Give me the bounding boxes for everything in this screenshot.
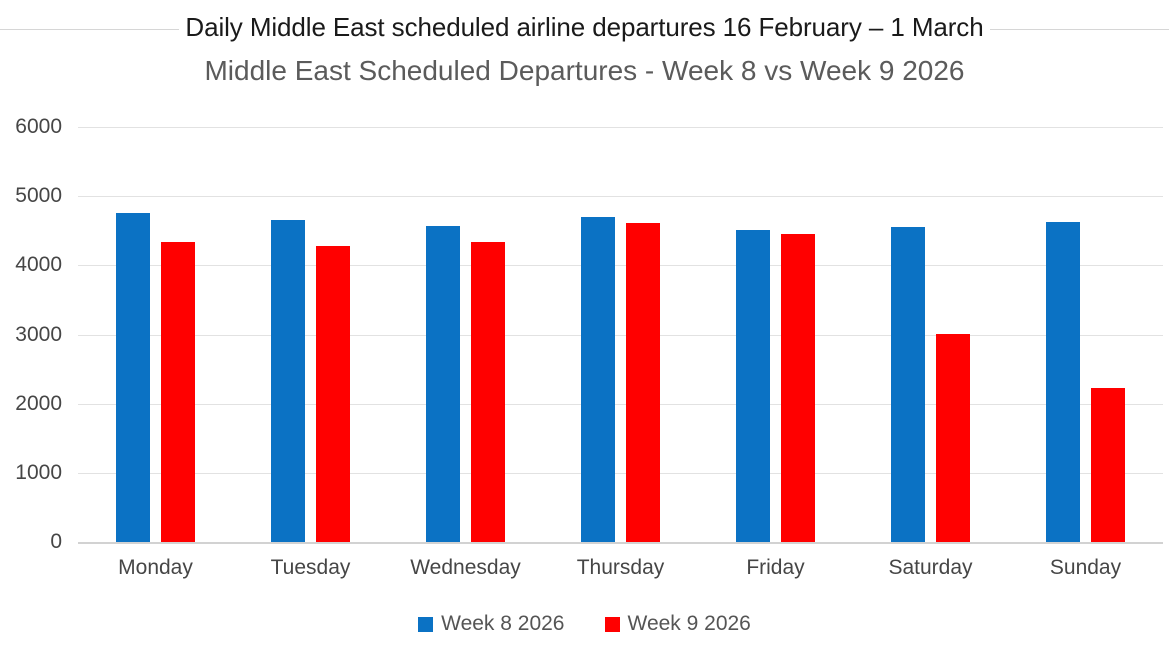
y-axis-tick-label: 2000 — [15, 392, 62, 416]
y-axis-tick-label: 6000 — [15, 115, 62, 139]
bar-wednesday-week-9-2026[interactable] — [471, 242, 505, 542]
chart-legend: Week 8 2026Week 9 2026 — [0, 612, 1169, 636]
chart-title: Middle East Scheduled Departures - Week … — [0, 55, 1169, 87]
x-axis-tick-label-friday: Friday — [746, 556, 804, 580]
x-axis-tick-label-saturday: Saturday — [888, 556, 972, 580]
bar-tuesday-week-8-2026[interactable] — [271, 220, 305, 542]
bar-friday-week-9-2026[interactable] — [781, 234, 815, 542]
y-axis-tick-label: 5000 — [15, 184, 62, 208]
y-axis-tick-label: 3000 — [15, 323, 62, 347]
x-axis-tick-label-thursday: Thursday — [577, 556, 665, 580]
bar-monday-week-9-2026[interactable] — [161, 242, 195, 542]
y-axis-tick-label: 0 — [50, 530, 62, 554]
x-axis-tick-label-wednesday: Wednesday — [410, 556, 521, 580]
y-axis-tick-label: 4000 — [15, 253, 62, 277]
bar-monday-week-8-2026[interactable] — [116, 213, 150, 542]
bar-saturday-week-8-2026[interactable] — [891, 227, 925, 542]
y-axis-tick-label: 1000 — [15, 461, 62, 485]
legend-swatch-icon — [605, 617, 620, 632]
bar-sunday-week-8-2026[interactable] — [1046, 222, 1080, 542]
x-axis-tick-label-tuesday: Tuesday — [271, 556, 351, 580]
bar-series-container — [78, 127, 1163, 542]
bar-sunday-week-9-2026[interactable] — [1091, 388, 1125, 542]
legend-item-week-8-2026[interactable]: Week 8 2026 — [418, 612, 564, 636]
legend-label: Week 9 2026 — [628, 612, 751, 636]
chart-page: Daily Middle East scheduled airline depa… — [0, 0, 1169, 651]
y-axis-labels: 0100020003000400050006000 — [0, 0, 70, 651]
bar-saturday-week-9-2026[interactable] — [936, 334, 970, 542]
x-axis-line — [78, 542, 1163, 544]
x-axis-labels: MondayTuesdayWednesdayThursdayFridaySatu… — [78, 556, 1163, 590]
legend-label: Week 8 2026 — [441, 612, 564, 636]
legend-swatch-icon — [418, 617, 433, 632]
legend-item-week-9-2026[interactable]: Week 9 2026 — [605, 612, 751, 636]
chart-subtitle-text: Daily Middle East scheduled airline depa… — [179, 12, 989, 42]
x-axis-tick-label-monday: Monday — [118, 556, 193, 580]
chart-subtitle-header: Daily Middle East scheduled airline depa… — [0, 12, 1169, 43]
bar-tuesday-week-9-2026[interactable] — [316, 246, 350, 542]
bar-friday-week-8-2026[interactable] — [736, 230, 770, 542]
plot-area — [78, 127, 1163, 542]
x-axis-tick-label-sunday: Sunday — [1050, 556, 1121, 580]
bar-thursday-week-8-2026[interactable] — [581, 217, 615, 542]
bar-wednesday-week-8-2026[interactable] — [426, 226, 460, 542]
bar-thursday-week-9-2026[interactable] — [626, 223, 660, 542]
